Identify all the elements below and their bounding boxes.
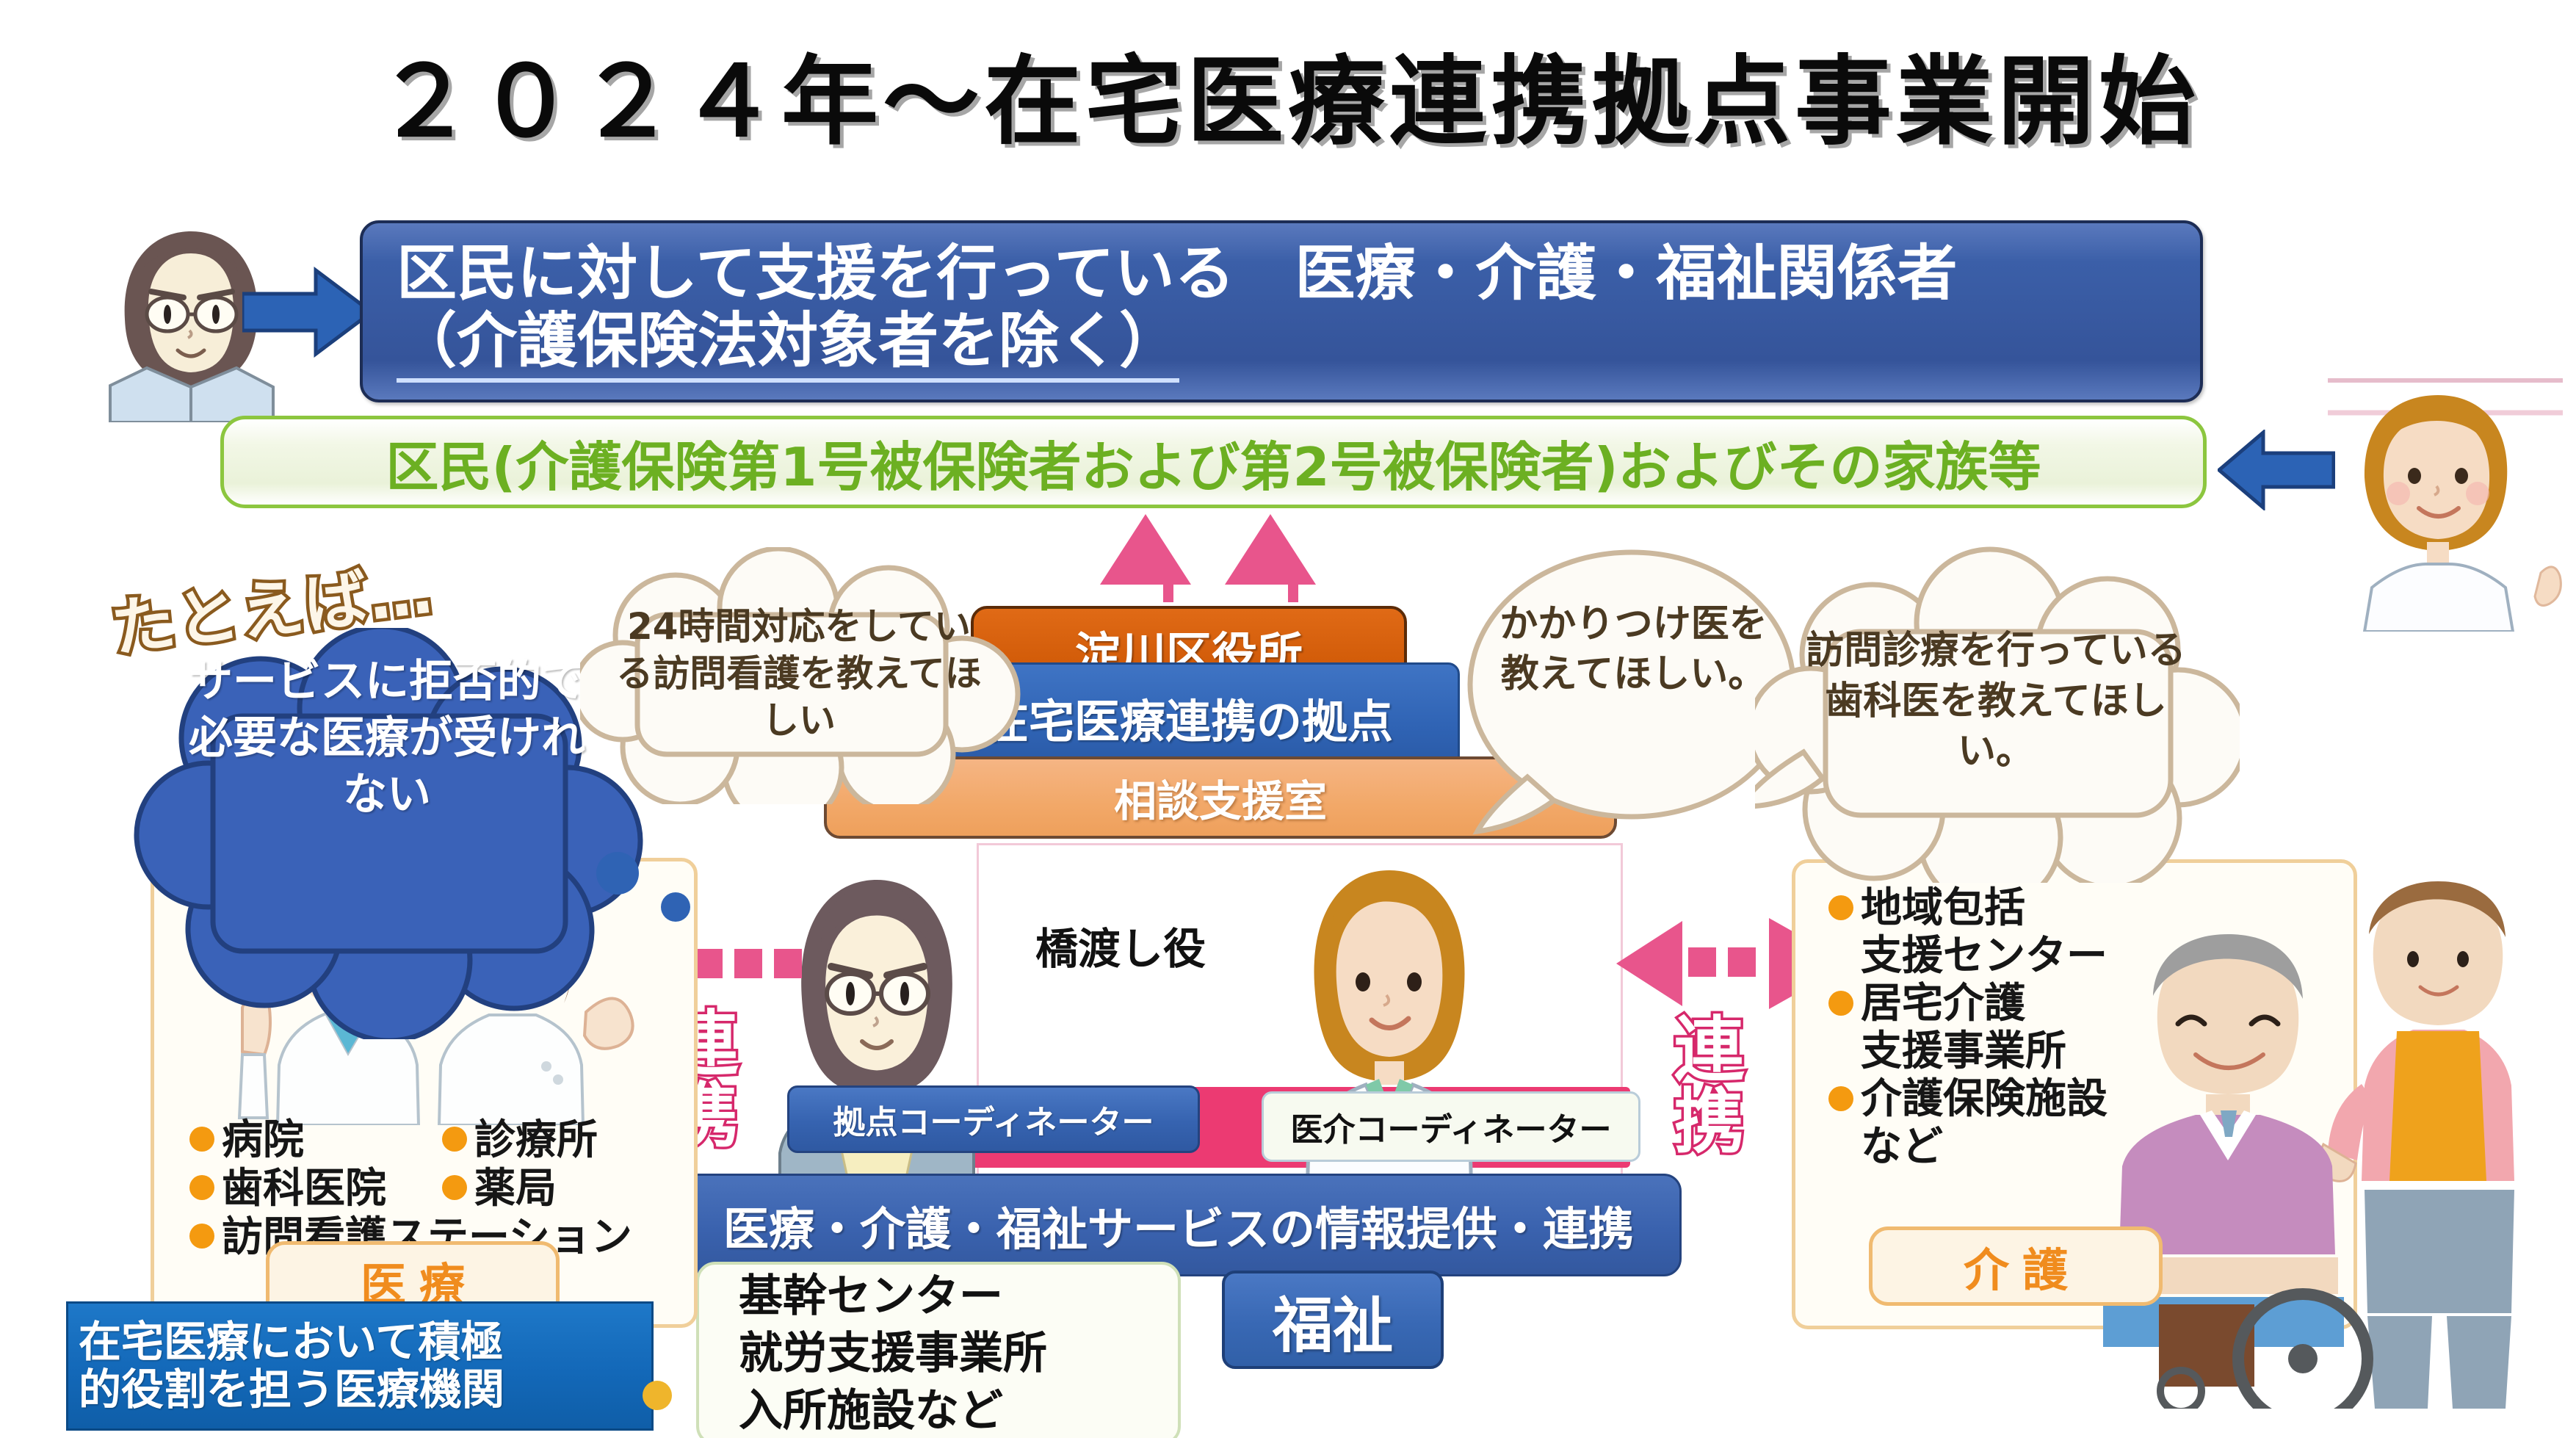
care-row-2: 介護保険施設 — [1828, 1076, 2342, 1124]
banner-line-1: 区民に対して支援を行っている 医療・介護・福祉関係者 — [397, 240, 2166, 308]
home-dentist-cloud-text: 訪問診療を行っている歯科医を教えてほしい。 — [1790, 580, 2201, 823]
welfare-list-item-0: 基幹センター — [739, 1268, 1178, 1325]
care-item-1-line1: 居宅介護 — [1861, 980, 2025, 1028]
blue-cloud-text: サービスに拒否的で必要な医療が受けれない — [170, 654, 604, 823]
care-row-0b: 支援センター — [1828, 933, 2342, 980]
bullet-spacer — [1828, 933, 1853, 958]
target-professionals-banner: 区民に対して支援を行っている 医療・介護・福祉関係者 （介護保険法対象者を除く） — [360, 220, 2203, 402]
care-row-1b: 支援事業所 — [1828, 1028, 2342, 1076]
blue-label-line-1: 在宅医療において積極 — [79, 1318, 651, 1366]
orange-bullet-icon — [189, 1127, 214, 1152]
medical-row-1: 歯科医院 薬局 — [189, 1165, 703, 1213]
decoration-dot-1 — [596, 852, 639, 895]
decoration-dot-3 — [643, 1381, 672, 1410]
medical-row-0: 病院 診療所 — [189, 1116, 703, 1165]
orange-bullet-icon — [442, 1127, 467, 1152]
medical-item-1: 診療所 — [474, 1116, 598, 1165]
active-home-care-institution-label: 在宅医療において積極 的役割を担う医療機関 — [66, 1301, 654, 1431]
right-linkage-label: 連携 — [1652, 1012, 1754, 1156]
hub-coordinator-tag: 拠点コーディネーター — [787, 1085, 1200, 1153]
orange-bullet-icon — [1828, 991, 1853, 1016]
orange-bullet-icon — [1828, 895, 1853, 920]
arrow-left-icon — [2218, 430, 2335, 510]
care-pill: 介護 — [1869, 1226, 2163, 1306]
bridge-role-label: 橋渡し役 — [1035, 914, 1206, 976]
care-row-1: 居宅介護 — [1828, 980, 2342, 1028]
bullet-spacer — [1828, 1028, 1853, 1053]
care-item-0-line2: 支援センター — [1861, 933, 2108, 980]
residents-banner: 区民(介護保険第1号被保険者および第2号被保険者)およびその家族等 — [220, 416, 2207, 508]
banner-line-2: （介護保険法対象者を除く） — [397, 308, 1179, 383]
care-row-0: 地域包括 — [1828, 885, 2342, 933]
medical-facility-list: 病院 診療所 歯科医院 薬局 訪問看護ステーション — [189, 1116, 703, 1262]
orange-bullet-icon — [189, 1224, 214, 1249]
resident-person-icon — [2320, 367, 2576, 632]
family-doctor-cloud-text: かかりつけ医を教えてほしい。 — [1492, 588, 1775, 712]
decoration-dot-2 — [661, 892, 690, 922]
blue-label-line-2: 的役割を担う医療機関 — [79, 1366, 651, 1414]
nurse-24h-cloud-text: 24時間対応をしている訪問看護を教えてほしい — [615, 582, 983, 765]
page-title: ２０２４年～在宅医療連携拠点事業開始 — [0, 24, 2576, 164]
care-item-2-line2: など — [1861, 1124, 1943, 1171]
medical-item-0: 病院 — [222, 1116, 442, 1165]
care-item-2-line1: 介護保険施設 — [1861, 1076, 2108, 1124]
care-item-0-line1: 地域包括 — [1861, 885, 2025, 933]
medcare-coordinator-tag: 医介コーディネーター — [1262, 1091, 1640, 1162]
welfare-facility-list: 基幹センター 就労支援事業所 入所施設など — [696, 1262, 1181, 1438]
welfare-list-item-2: 入所施設など — [739, 1382, 1178, 1438]
care-row-2b: など — [1828, 1124, 2342, 1171]
care-facility-list: 地域包括 支援センター 居宅介護 支援事業所 介護保険施設 など — [1828, 885, 2342, 1171]
diagram-canvas: ２０２４年～在宅医療連携拠点事業開始 区民に対して支援を行っている 医療・介護・… — [0, 0, 2576, 1438]
welfare-list-item-1: 就労支援事業所 — [739, 1325, 1178, 1382]
arrow-right-icon — [242, 264, 375, 360]
service-info-banner: 医療・介護・福祉サービスの情報提供・連携 — [676, 1174, 1682, 1276]
medical-item-2: 歯科医院 — [222, 1165, 442, 1213]
bullet-spacer — [1828, 1124, 1853, 1149]
medical-item-3: 薬局 — [474, 1165, 557, 1213]
orange-bullet-icon — [442, 1175, 467, 1200]
orange-bullet-icon — [189, 1175, 214, 1200]
care-item-1-line2: 支援事業所 — [1861, 1028, 2066, 1076]
orange-bullet-icon — [1828, 1086, 1853, 1111]
welfare-tag: 福祉 — [1222, 1271, 1444, 1369]
